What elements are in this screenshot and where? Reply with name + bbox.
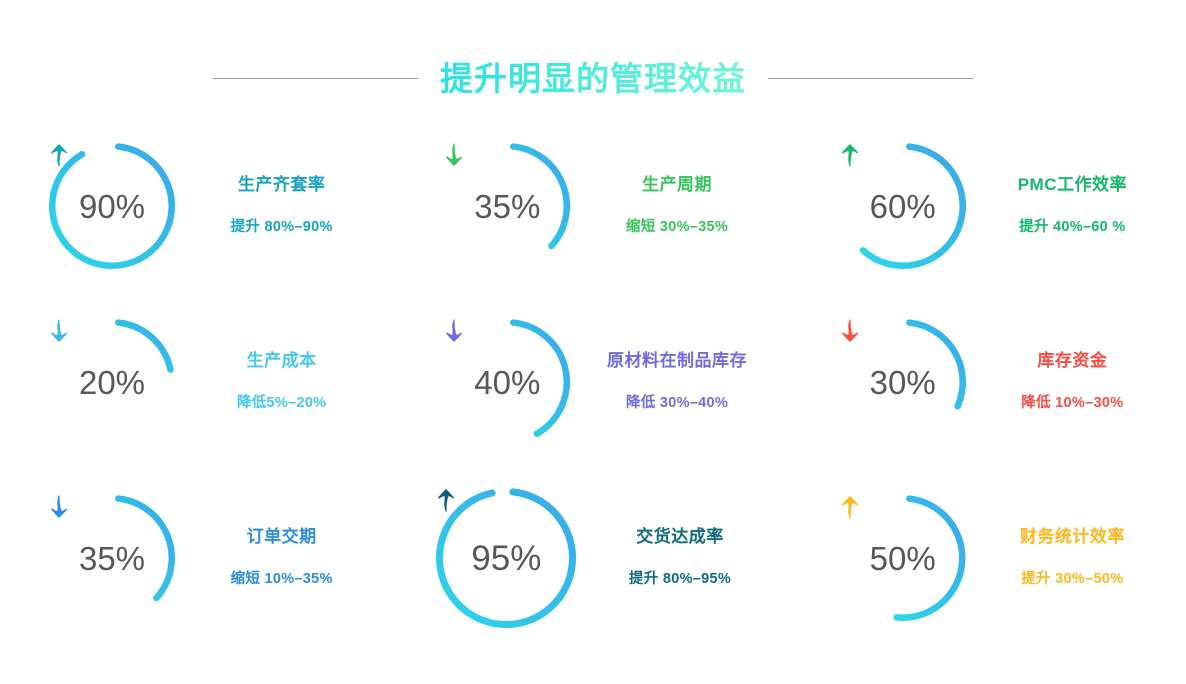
stat-card-delivery-achievement-rate: 95%交货达成率提升 80%–95% <box>395 470 790 646</box>
stat-labels: 财务统计效率提升 30%–50% <box>985 528 1186 589</box>
ring-arc <box>909 323 962 407</box>
header-rule-left <box>213 78 418 79</box>
stat-labels: 生产周期缩短 30%–35% <box>589 176 790 237</box>
stat-labels: 交货达成率提升 80%–95% <box>595 528 790 589</box>
stat-labels: PMC工作效率提升 40%–60 % <box>985 176 1186 237</box>
page-title: 提升明显的管理效益 <box>418 62 768 95</box>
progress-ring-order-lead-time: 35% <box>48 494 176 622</box>
stat-subtitle: 提升 80%–90% <box>231 220 333 236</box>
ring-arc <box>52 147 172 266</box>
progress-ring-delivery-achievement-rate: 95% <box>435 487 577 629</box>
stat-card-production-cycle: 35%生产周期缩短 30%–35% <box>395 118 790 294</box>
stat-title: PMC工作效率 <box>1018 176 1127 195</box>
stat-title: 财务统计效率 <box>1020 528 1125 547</box>
stat-subtitle: 提升 30%–50% <box>1021 572 1123 588</box>
page-header: 提升明显的管理效益 <box>0 52 1186 104</box>
stat-card-raw-material-wip-inventory: 40%原材料在制品库存降低 30%–40% <box>395 294 790 470</box>
stat-labels: 订单交期缩短 10%–35% <box>194 528 395 589</box>
ring-arc <box>514 147 567 246</box>
ring-arc <box>118 323 170 370</box>
stat-labels: 生产成本降低5%–20% <box>194 352 395 413</box>
stat-card-finance-statistics-efficiency: 50%财务统计效率提升 30%–50% <box>791 470 1186 646</box>
progress-ring-production-cycle: 35% <box>443 142 571 270</box>
stat-card-production-cost: 20%生产成本降低5%–20% <box>0 294 395 470</box>
header-rule-right <box>768 78 973 79</box>
stat-card-inventory-capital: 30%库存资金降低 10%–30% <box>791 294 1186 470</box>
stat-title: 库存资金 <box>1037 352 1107 371</box>
stat-subtitle: 提升 80%–95% <box>629 572 731 588</box>
stat-labels: 原材料在制品库存降低 30%–40% <box>589 352 790 413</box>
ring-arc <box>896 499 961 618</box>
stat-title: 原材料在制品库存 <box>607 352 747 371</box>
stat-subtitle: 降低 10%–30% <box>1021 396 1123 412</box>
stat-subtitle: 降低 30%–40% <box>626 396 728 412</box>
progress-ring-raw-material-wip-inventory: 40% <box>443 318 571 446</box>
stat-card-production-kitting-rate: 90%生产齐套率提升 80%–90% <box>0 118 395 294</box>
ring-arc <box>118 499 171 598</box>
progress-ring-production-cost: 20% <box>48 318 176 446</box>
stat-labels: 库存资金降低 10%–30% <box>985 352 1186 413</box>
stat-title: 订单交期 <box>247 528 317 547</box>
stat-title: 生产周期 <box>642 176 712 195</box>
stat-title: 生产齐套率 <box>238 176 326 195</box>
stat-subtitle: 降低5%–20% <box>237 396 326 412</box>
stat-subtitle: 缩短 10%–35% <box>231 572 333 588</box>
stat-subtitle: 提升 40%–60 % <box>1019 220 1125 236</box>
progress-ring-inventory-capital: 30% <box>839 318 967 446</box>
ring-arc <box>863 147 963 266</box>
progress-ring-pmc-work-efficiency: 60% <box>839 142 967 270</box>
stat-title: 交货达成率 <box>636 528 724 547</box>
stats-grid: 90%生产齐套率提升 80%–90%35%生产周期缩短 30%–35%60%PM… <box>0 118 1186 658</box>
progress-ring-finance-statistics-efficiency: 50% <box>839 494 967 622</box>
ring-arc <box>440 492 573 625</box>
stat-title: 生产成本 <box>247 352 317 371</box>
stat-card-order-lead-time: 35%订单交期缩短 10%–35% <box>0 470 395 646</box>
stat-subtitle: 缩短 30%–35% <box>626 220 728 236</box>
progress-ring-production-kitting-rate: 90% <box>48 142 176 270</box>
stat-labels: 生产齐套率提升 80%–90% <box>194 176 395 237</box>
ring-arc <box>514 323 568 434</box>
stat-card-pmc-work-efficiency: 60%PMC工作效率提升 40%–60 % <box>791 118 1186 294</box>
